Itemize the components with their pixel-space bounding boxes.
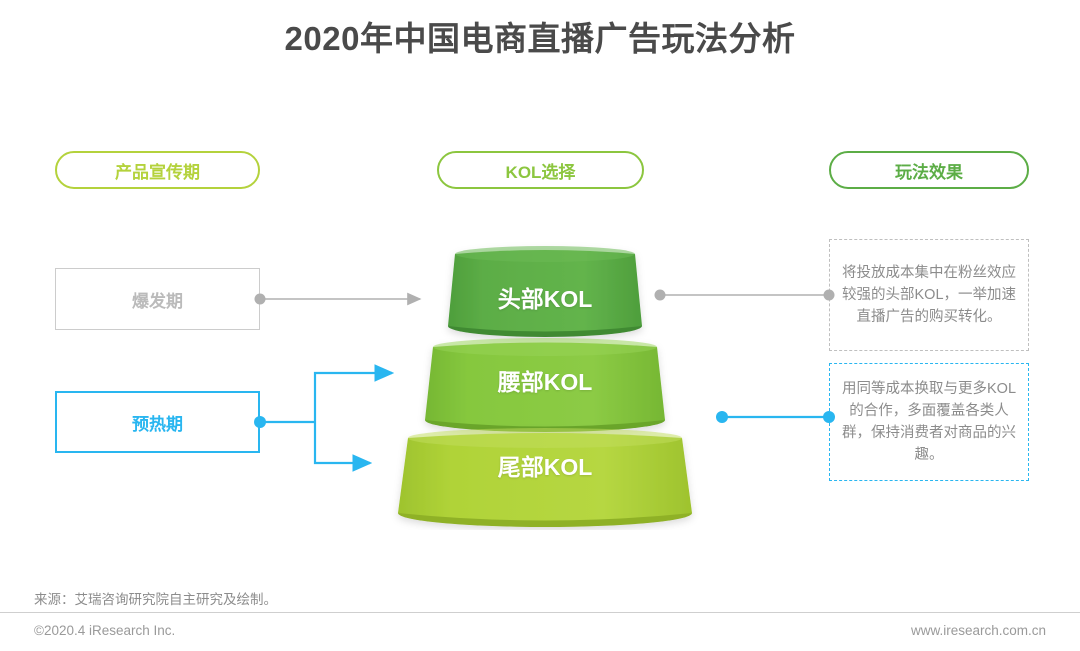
stage-pill-product-promotion: 产品宣传期 [55,151,260,189]
stage-pill-play-effect: 玩法效果 [829,151,1029,189]
effect-note-head: 将投放成本集中在粉丝效应较强的头部KOL，一举加速直播广告的购买转化。 [829,239,1029,351]
phase-box-label: 爆发期 [132,287,183,312]
phase-box-warmup: 预热期 [55,391,260,453]
effect-note-text: 将投放成本集中在粉丝效应较强的头部KOL，一举加速直播广告的购买转化。 [842,262,1016,328]
footer-divider [0,612,1080,613]
source-note: 来源：艾瑞咨询研究院自主研究及绘制。 [34,588,277,608]
page-title: 2020年中国电商直播广告玩法分析 [0,12,1080,60]
stage-pill-kol-selection: KOL选择 [437,151,644,189]
funnel-label-tail: 尾部KOL [368,448,722,482]
stage-pill-label: 产品宣传期 [115,158,200,183]
funnel-label-head: 头部KOL [400,280,690,314]
website-url: www.iresearch.com.cn [911,623,1046,638]
stage-pill-label: 玩法效果 [895,158,963,183]
copyright-text: ©2020.4 iResearch Inc. [34,623,175,638]
funnel-label-waist: 腰部KOL [385,363,705,397]
phase-box-burst: 爆发期 [55,268,260,330]
effect-note-text: 用同等成本换取与更多KOL的合作，多面覆盖各类人群，保持消费者对商品的兴趣。 [842,378,1016,466]
stage-pill-label: KOL选择 [506,158,576,183]
infographic-canvas: 2020年中国电商直播广告玩法分析 产品宣传期 KOL选择 玩法效果 爆发期 预… [0,0,1080,651]
phase-box-label: 预热期 [132,410,183,435]
effect-note-waist: 用同等成本换取与更多KOL的合作，多面覆盖各类人群，保持消费者对商品的兴趣。 [829,363,1029,481]
